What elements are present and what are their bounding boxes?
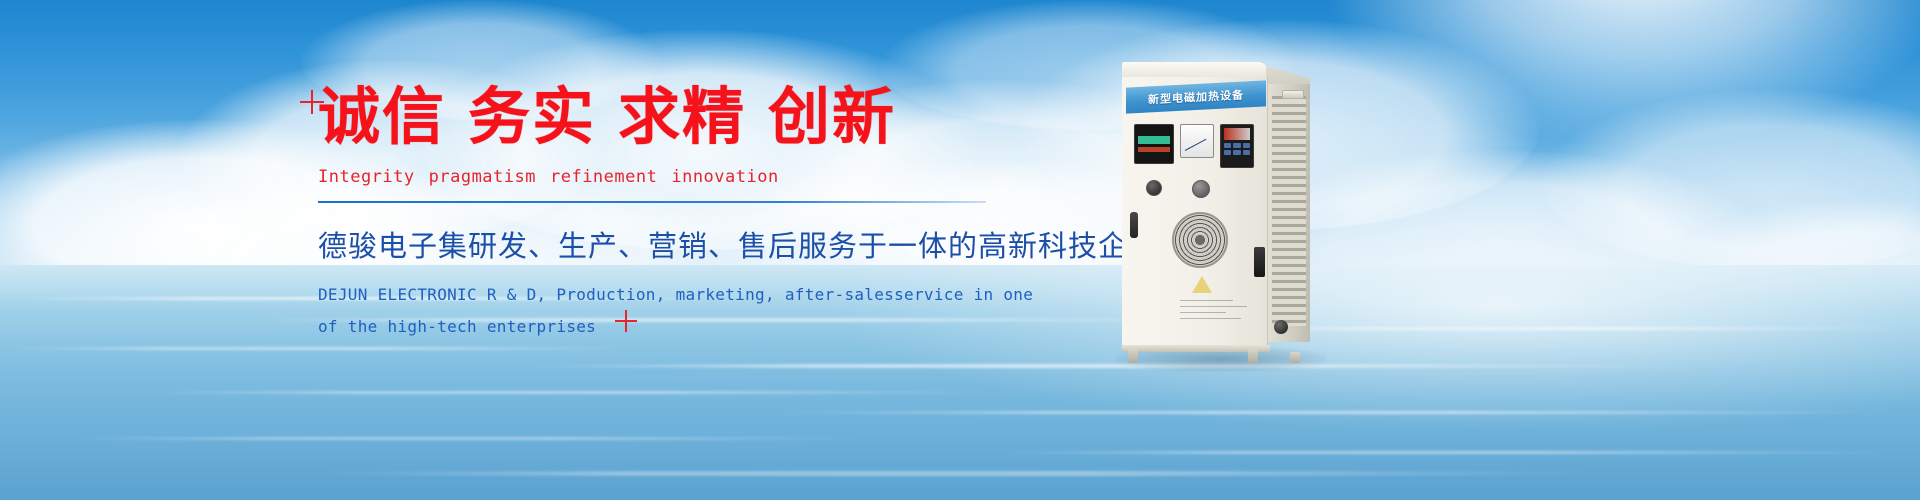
side-port-icon xyxy=(1274,320,1288,334)
banner-subtitle-english: Integritypragmatismrefinementinnovation xyxy=(318,167,1038,187)
machine-top-panel xyxy=(1122,62,1268,78)
headline-word-3: 求精 xyxy=(618,80,746,153)
warning-triangle-icon xyxy=(1192,276,1212,293)
machine-spec-text xyxy=(1180,300,1256,324)
headline-word-4: 创新 xyxy=(768,80,896,153)
product-image-heating-machine: 新型电磁加热设备 xyxy=(1122,62,1318,362)
side-latch-icon xyxy=(1254,247,1265,277)
ventilation-louvers-icon xyxy=(1272,96,1306,326)
wave-highlight xyxy=(520,364,1700,368)
selector-knob-icon xyxy=(1146,180,1162,196)
promotional-banner: 诚信务实求精创新 Integritypragmatismrefinementin… xyxy=(0,0,1920,500)
machine-control-panel xyxy=(1134,124,1256,170)
top-handle-icon xyxy=(1282,90,1304,99)
description-english-line-2: of the high-tech enterprises xyxy=(318,311,1038,343)
wave-highlight xyxy=(760,411,1920,414)
headline-word-2: 务实 xyxy=(468,80,596,153)
analog-meter-icon xyxy=(1180,124,1214,158)
banner-copy: 诚信务实求精创新 Integritypragmatismrefinementin… xyxy=(318,84,1038,343)
wave-highlight xyxy=(0,347,640,350)
cooling-fan-grille-icon xyxy=(1172,212,1228,268)
machine-legs xyxy=(1122,349,1310,363)
company-description-chinese: 德骏电子集研发、生产、营销、售后服务于一体的高新科技企业 xyxy=(318,223,1038,265)
description-english-line-1: DEJUN ELECTRONIC R & D, Production, mark… xyxy=(318,279,1038,311)
door-latch-icon xyxy=(1130,212,1138,238)
divider-rule xyxy=(318,201,986,203)
wave-highlight xyxy=(120,391,1020,394)
subtitle-word-4: innovation xyxy=(671,167,778,187)
wave-highlight xyxy=(980,451,1920,454)
wave-highlight xyxy=(300,471,1620,476)
subtitle-word-1: Integrity xyxy=(318,167,415,187)
wave-highlight xyxy=(60,437,880,440)
headline-word-1: 诚信 xyxy=(318,80,446,153)
machine-label-text: 新型电磁加热设备 xyxy=(1148,86,1244,107)
digital-readout-icon xyxy=(1134,124,1174,164)
company-description-english: DEJUN ELECTRONIC R & D, Production, mark… xyxy=(318,279,1038,343)
inverter-keypad-icon xyxy=(1220,124,1254,168)
control-knob-icon xyxy=(1192,180,1210,198)
subtitle-word-2: pragmatism xyxy=(429,167,536,187)
banner-headline: 诚信务实求精创新 xyxy=(318,84,1038,151)
subtitle-word-3: refinement xyxy=(550,167,657,187)
